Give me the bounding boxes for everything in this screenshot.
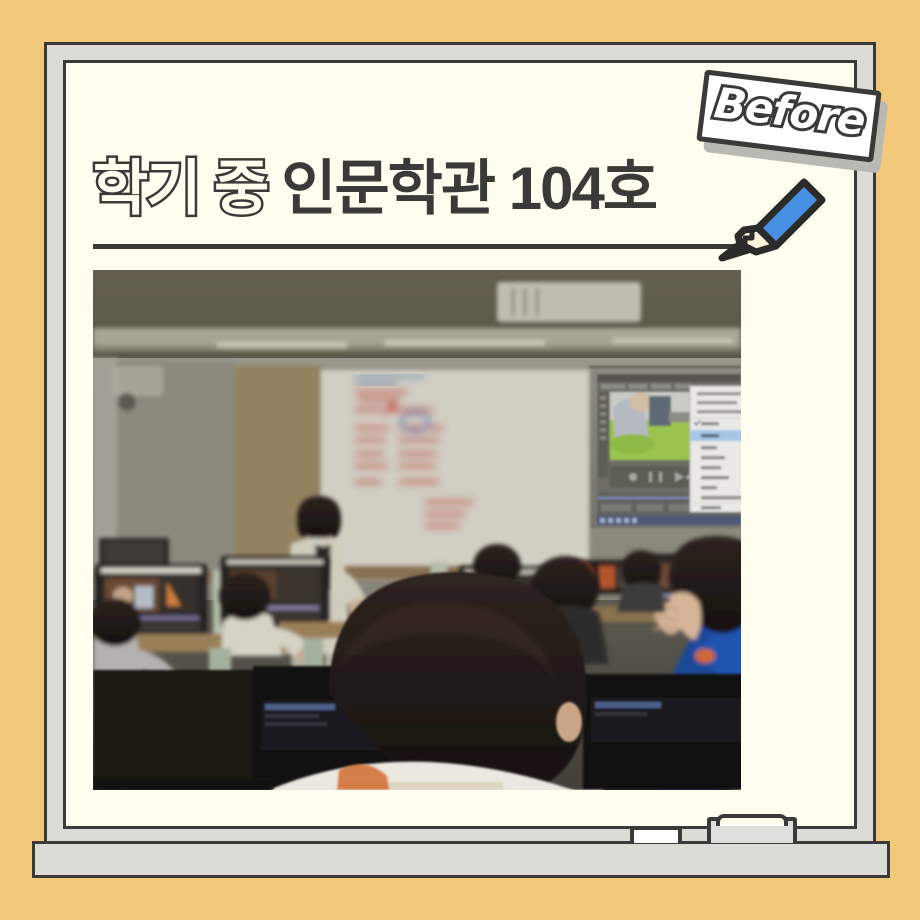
title-solid-part: 인문학관 104호 — [281, 159, 656, 219]
pencil-icon — [718, 172, 828, 264]
title-divider — [93, 244, 741, 249]
shelf-ledge — [32, 841, 890, 878]
poster-canvas: 학기 중 인문학관 104호 Before — [0, 0, 920, 920]
page-title: 학기 중 인문학관 104호 — [93, 148, 743, 230]
eraser-icon — [630, 826, 682, 843]
title-outlined-part: 학기 중 — [93, 159, 267, 219]
pencil-case-lid — [716, 814, 788, 826]
classroom-photo — [93, 270, 741, 790]
